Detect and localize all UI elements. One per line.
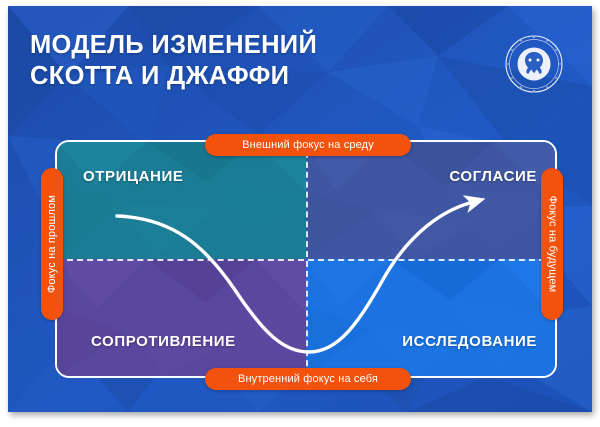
axis-pill-left-label: Фокус на прошлом bbox=[46, 195, 58, 293]
axis-pill-bottom-label: Внутренний фокус на себя bbox=[238, 373, 378, 385]
axis-pill-future-focus[interactable]: Фокус на будущем bbox=[541, 168, 563, 320]
change-curve bbox=[55, 140, 557, 378]
axis-pill-right-label: Фокус на будущем bbox=[546, 196, 558, 293]
header: МОДЕЛЬ ИЗМЕНЕНИЙ СКОТТА И ДЖАФФИ bbox=[8, 6, 592, 124]
russian-school-of-management-logo-icon bbox=[504, 34, 564, 94]
axis-pill-past-focus[interactable]: Фокус на прошлом bbox=[41, 168, 63, 320]
axis-pill-external-focus[interactable]: Внешний фокус на среду bbox=[205, 134, 411, 156]
slide-canvas: МОДЕЛЬ ИЗМЕНЕНИЙ СКОТТА И ДЖАФФИ bbox=[8, 6, 592, 412]
axis-pill-top-label: Внешний фокус на среду bbox=[242, 139, 374, 151]
page-title: МОДЕЛЬ ИЗМЕНЕНИЙ СКОТТА И ДЖАФФИ bbox=[30, 30, 470, 92]
axis-pill-internal-focus[interactable]: Внутренний фокус на себя bbox=[205, 368, 411, 390]
change-model-matrix: ОТРИЦАНИЕ СОГЛАСИЕ bbox=[55, 140, 557, 378]
